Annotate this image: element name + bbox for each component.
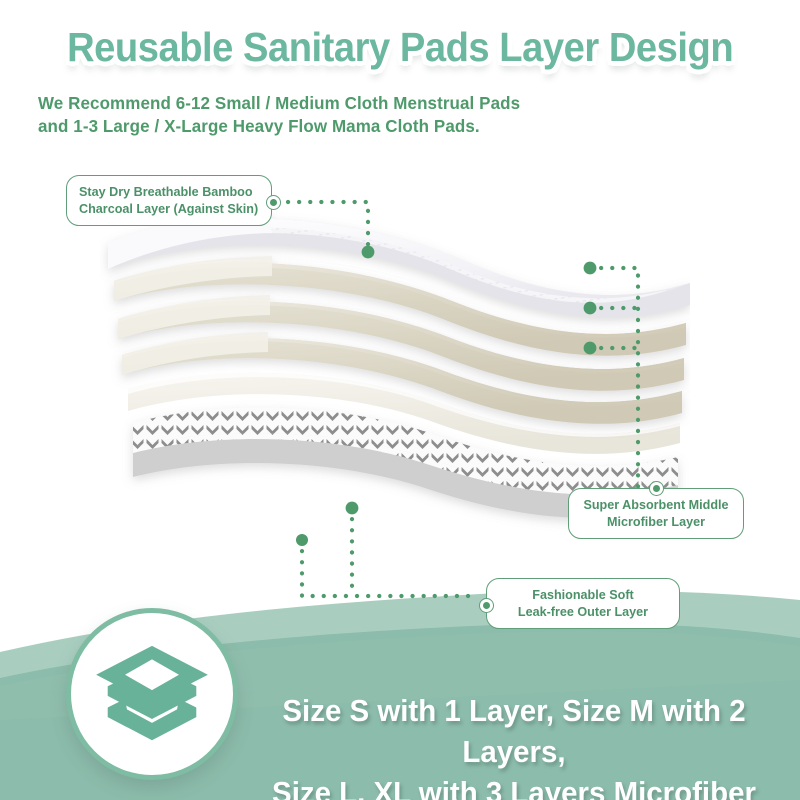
banner-size-text: Size S with 1 Layer, Size M with 2 Layer…	[250, 690, 778, 800]
dot-connector-icon	[649, 481, 664, 496]
callout-bamboo-charcoal-layer[interactable]: Stay Dry Breathable Bamboo Charcoal Laye…	[66, 175, 272, 226]
dot-connector-icon	[266, 195, 281, 210]
page-subtitle: We Recommend 6-12 Small / Medium Cloth M…	[38, 92, 520, 138]
page-title-text: Reusable Sanitary Pads Layer Design	[67, 24, 733, 70]
page-title: Reusable Sanitary Pads Layer Design	[0, 24, 800, 71]
exploded-pad-layers-illustration	[100, 185, 690, 605]
callout-leak-free-outer-layer[interactable]: Fashionable Soft Leak-free Outer Layer	[486, 578, 680, 629]
layers-stack-icon	[94, 642, 210, 746]
layers-logo-badge	[66, 608, 238, 780]
dot-connector-icon	[479, 598, 494, 613]
infographic-canvas: Reusable Sanitary Pads Layer Design We R…	[0, 0, 800, 800]
